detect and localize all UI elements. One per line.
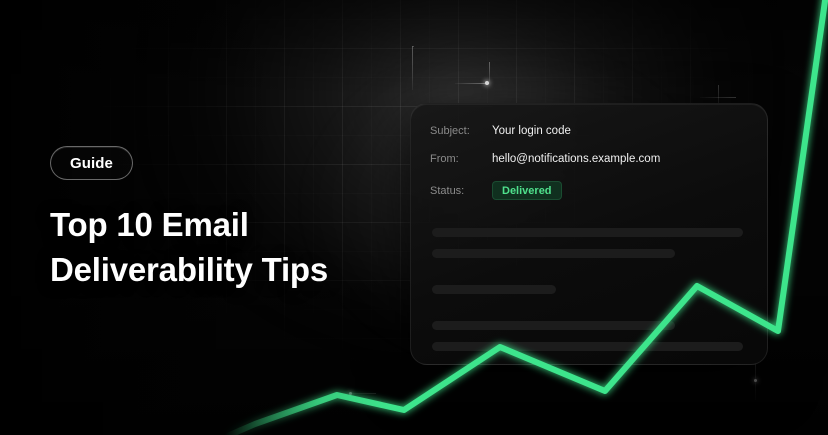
skeleton-bar [432,228,743,237]
skeleton-bar [432,342,743,351]
page-title-line-1: Top 10 Email [50,202,328,247]
hero-copy: Guide Top 10 Email Deliverability Tips [50,146,328,292]
guide-badge: Guide [50,146,133,180]
hero-banner: Subject: Your login code From: hello@not… [0,0,828,435]
subject-label: Subject: [430,125,492,137]
email-field-subject: Subject: Your login code [430,125,743,137]
email-header-fields: Subject: Your login code From: hello@not… [411,104,767,200]
page-title-line-2: Deliverability Tips [50,247,328,292]
status-badge: Delivered [492,181,562,200]
page-title: Top 10 Email Deliverability Tips [50,202,328,292]
email-body-skeleton [411,216,767,351]
skeleton-bar [432,321,675,330]
email-field-from: From: hello@notifications.example.com [430,153,743,165]
email-preview-card: Subject: Your login code From: hello@not… [410,103,768,365]
skeleton-bar [432,249,675,258]
skeleton-bar [432,285,556,294]
status-label: Status: [430,185,492,197]
subject-value: Your login code [492,125,571,137]
from-value: hello@notifications.example.com [492,153,660,165]
from-label: From: [430,153,492,165]
email-field-status: Status: Delivered [430,181,743,200]
